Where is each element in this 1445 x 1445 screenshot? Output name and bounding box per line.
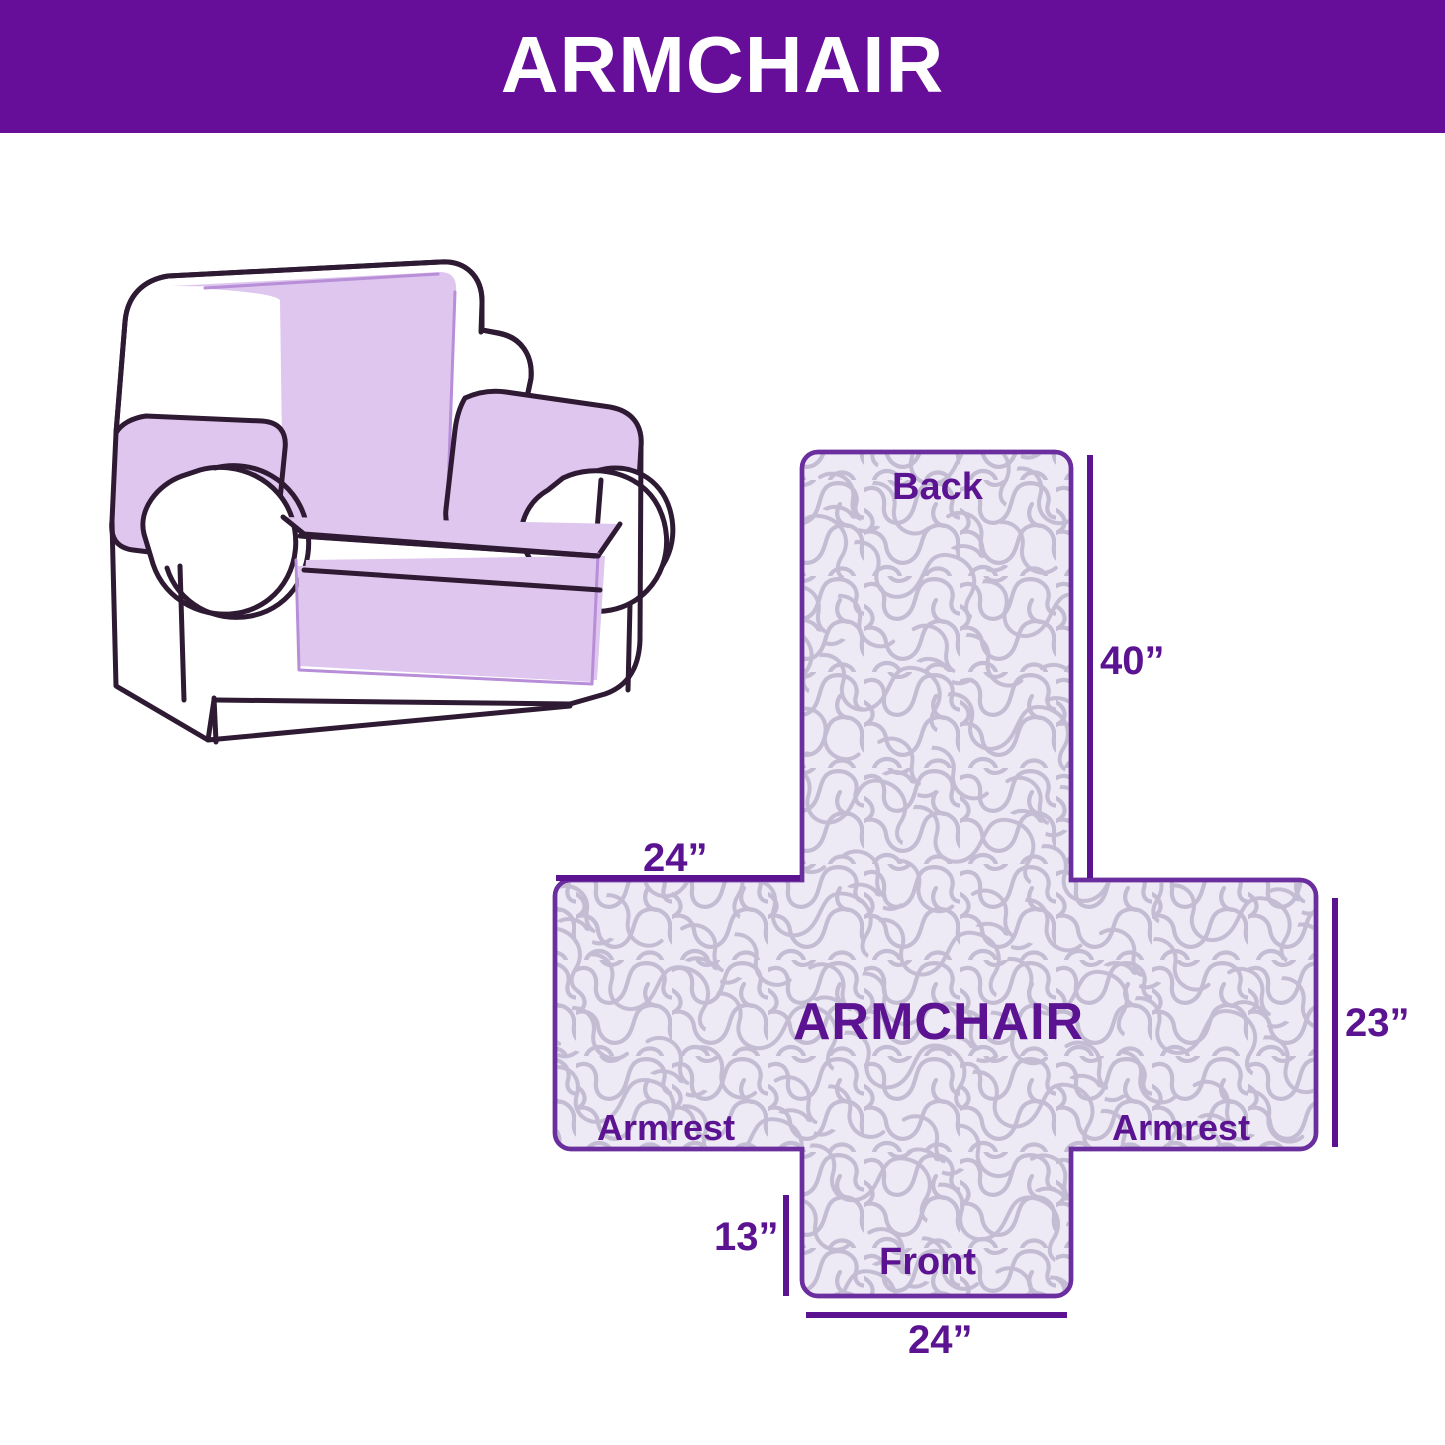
dimension-label-back-width: 24”	[643, 838, 708, 878]
dimension-lines	[556, 455, 1335, 1315]
panel-label-back: Back	[892, 468, 983, 506]
page-title: ARMCHAIR	[501, 25, 945, 105]
armchair-size-guide-page: ARMCHAIR	[0, 0, 1445, 1445]
dimension-label-front-width: 24”	[908, 1320, 973, 1360]
pattern-center-label: ARMCHAIR	[793, 996, 1084, 1048]
header-band: ARMCHAIR	[0, 0, 1445, 133]
panel-label-armrest-left: Armrest	[597, 1110, 735, 1146]
panel-label-armrest-right: Armrest	[1112, 1110, 1250, 1146]
dimension-label-back-height: 40”	[1100, 641, 1165, 681]
dimension-label-armrest-height: 23”	[1345, 1003, 1410, 1043]
dimension-label-front-height: 13”	[714, 1217, 779, 1257]
panel-label-front: Front	[879, 1243, 976, 1281]
